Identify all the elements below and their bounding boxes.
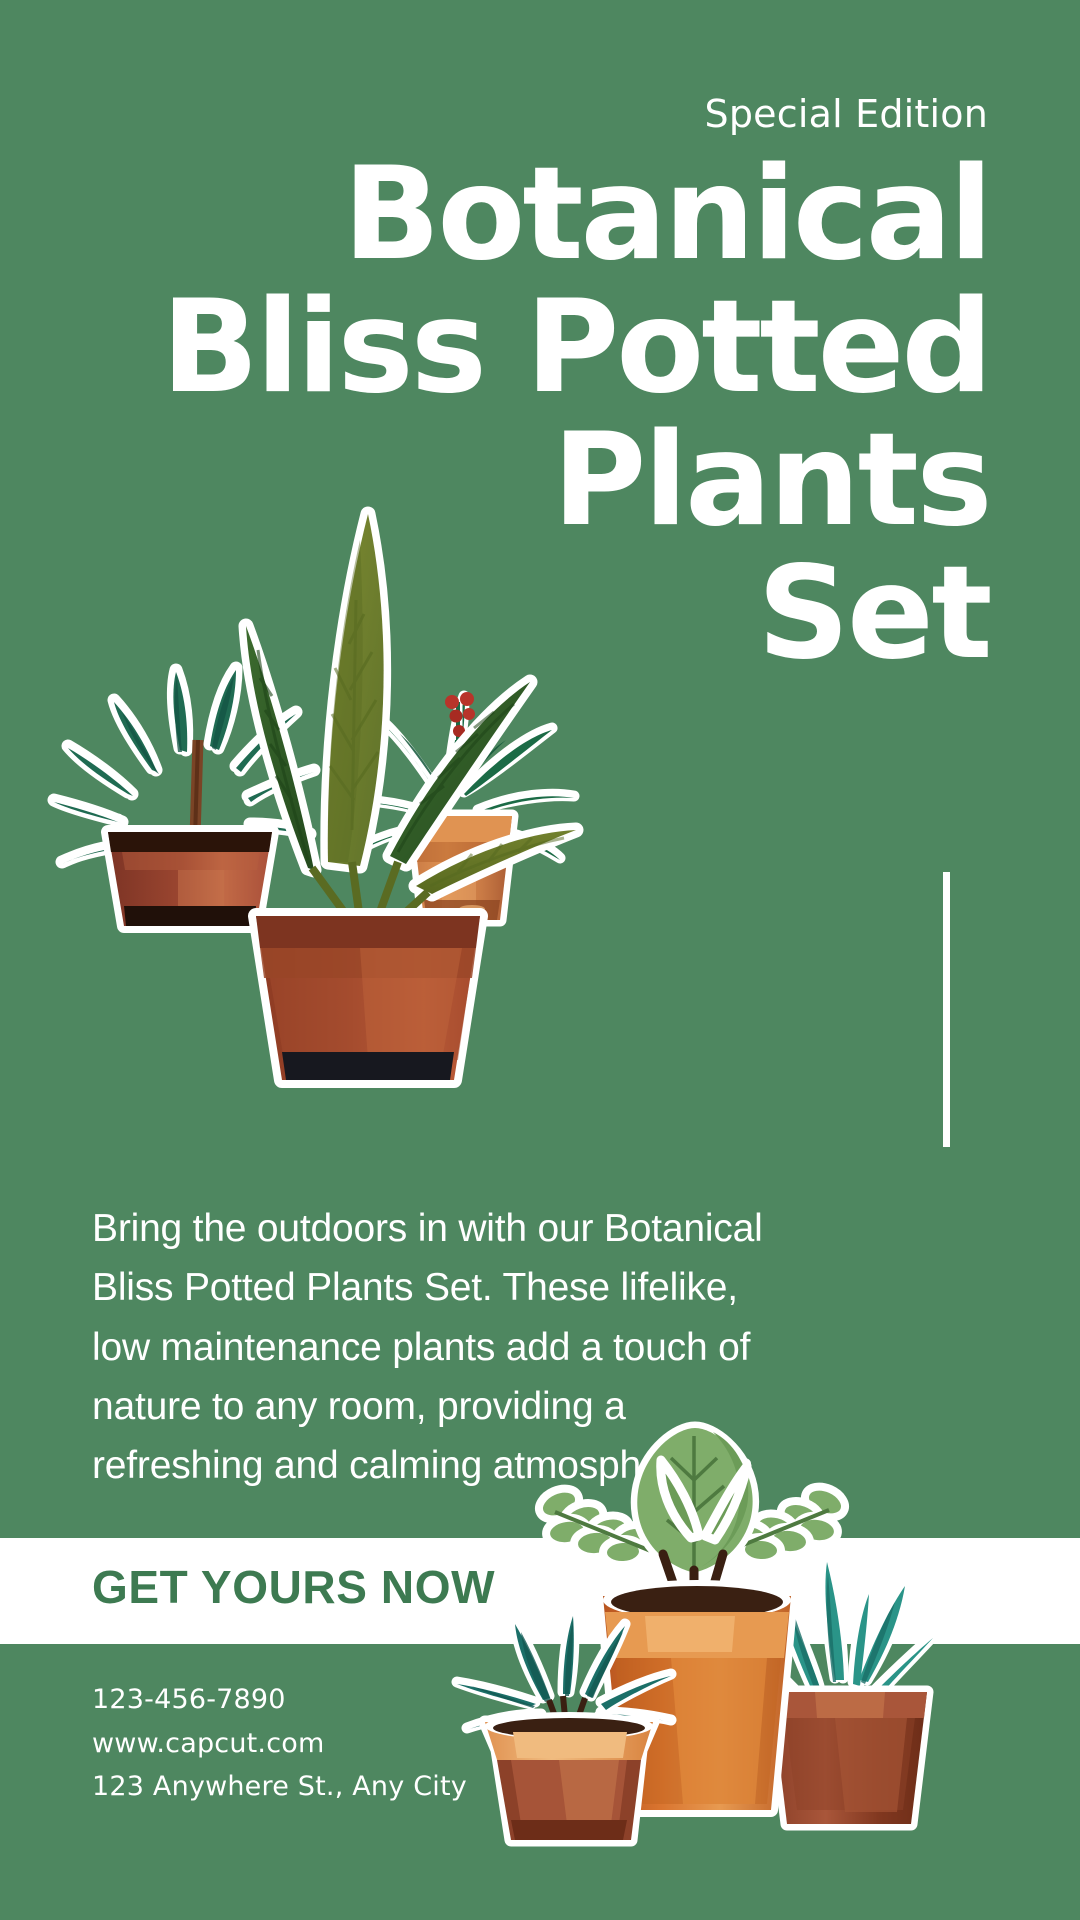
bottom-plants-illustration [455, 1420, 935, 1870]
footer-address: 123 Anywhere St., Any City [92, 1765, 467, 1809]
footer-website[interactable]: www.capcut.com [92, 1722, 467, 1766]
footer-contact-info: 123-456-7890 www.capcut.com 123 Anywhere… [92, 1678, 467, 1809]
title-line-1: Botanical [60, 148, 990, 281]
title-line-2: Bliss Potted [60, 281, 990, 414]
vertical-divider [943, 872, 950, 1147]
poster-canvas: Special Edition Botanical Bliss Potted P… [0, 0, 1080, 1920]
footer-phone[interactable]: 123-456-7890 [92, 1678, 467, 1722]
eyebrow-special-edition: Special Edition [705, 92, 988, 136]
cta-label[interactable]: GET YOURS NOW [92, 1560, 495, 1614]
top-plants-illustration [60, 400, 680, 980]
